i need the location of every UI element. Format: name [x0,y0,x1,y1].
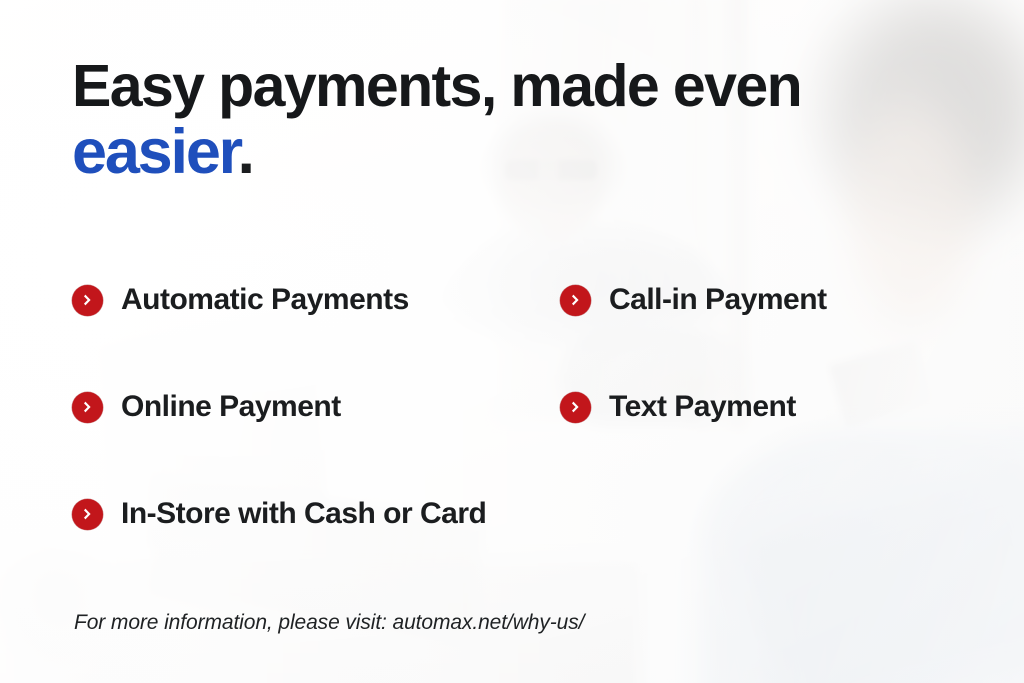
headline: Easy payments, made even easier. [72,56,801,184]
list-item-label: Automatic Payments [121,283,409,317]
headline-line-2: easier. [72,120,801,184]
list-item-online-payment: Online Payment [72,390,341,424]
payment-options-list: Automatic Payments Call-in Payment [72,283,972,604]
list-item-automatic-payments: Automatic Payments [72,283,409,317]
bullet-row: In-Store with Cash or Card [72,497,972,604]
list-item-label: In-Store with Cash or Card [121,497,486,531]
headline-accent-word: easier [72,117,238,187]
list-item-call-in-payment: Call-in Payment [560,283,827,317]
bullet-row: Online Payment Text Payment [72,390,972,497]
list-item-in-store-cash-or-card: In-Store with Cash or Card [72,497,486,531]
chevron-right-circle-icon [72,499,103,530]
chevron-right-circle-icon [560,285,591,316]
list-item-label: Online Payment [121,390,341,424]
chevron-right-circle-icon [560,392,591,423]
banner-content: Easy payments, made even easier. Automat… [0,0,1024,683]
headline-line-1: Easy payments, made even [72,53,801,119]
chevron-right-circle-icon [72,285,103,316]
list-item-text-payment: Text Payment [560,390,796,424]
footnote-visit-url: For more information, please visit: auto… [74,611,584,635]
list-item-label: Call-in Payment [609,283,827,317]
chevron-right-circle-icon [72,392,103,423]
promo-banner: Easy payments, made even easier. Automat… [0,0,1024,683]
list-item-label: Text Payment [609,390,796,424]
bullet-row: Automatic Payments Call-in Payment [72,283,972,390]
headline-period: . [238,117,253,187]
